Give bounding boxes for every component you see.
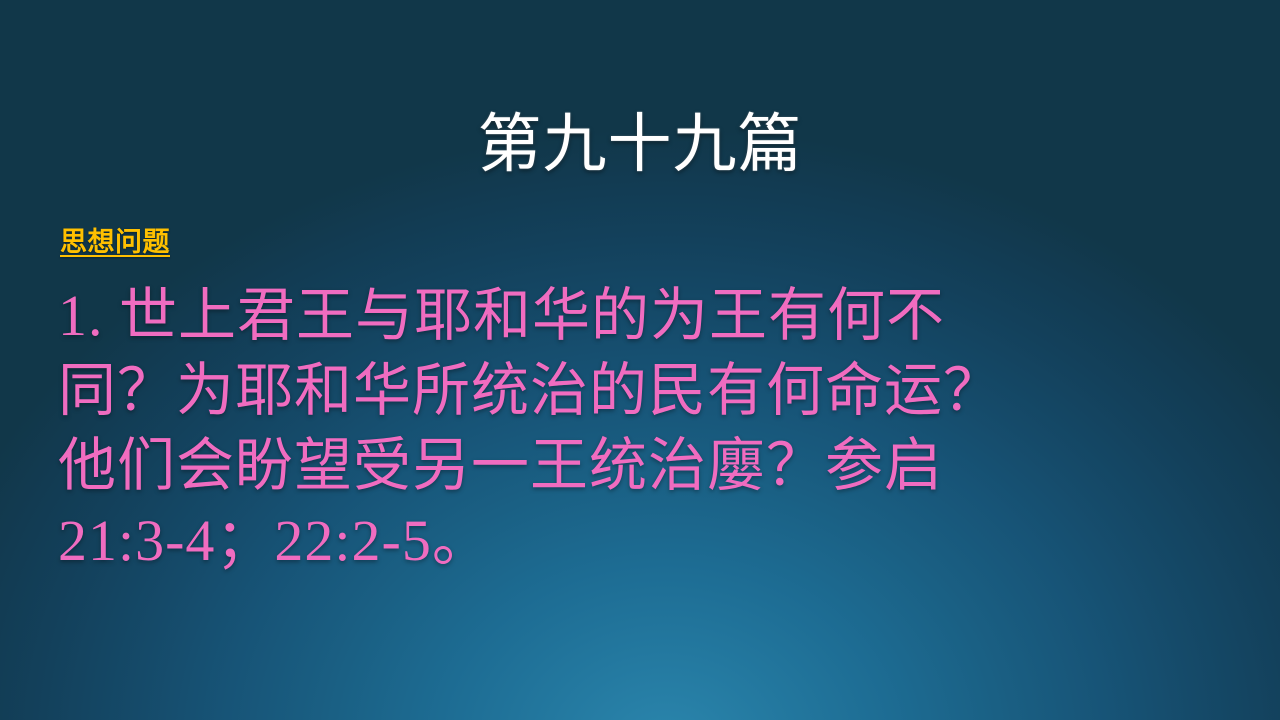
question-body: 1. 世上君王与耶和华的为王有何不 同？为耶和华所统治的民有何命运？ 他们会盼望… bbox=[58, 278, 1238, 578]
question-body-line-4: 21:3-4；22:2-5。 bbox=[58, 503, 1238, 578]
slide-title: 第九十九篇 bbox=[0, 108, 1280, 182]
question-body-line-2: 同？为耶和华所统治的民有何命运？ bbox=[58, 353, 1238, 428]
presentation-slide: 第九十九篇 思想问题 1. 世上君王与耶和华的为王有何不 同？为耶和华所统治的民… bbox=[0, 0, 1280, 720]
question-body-line-3: 他们会盼望受另一王统治廮？参启 bbox=[58, 428, 1238, 503]
section-heading-thinking-questions: 思想问题 bbox=[60, 228, 170, 258]
question-body-line-1: 1. 世上君王与耶和华的为王有何不 bbox=[58, 278, 1238, 353]
